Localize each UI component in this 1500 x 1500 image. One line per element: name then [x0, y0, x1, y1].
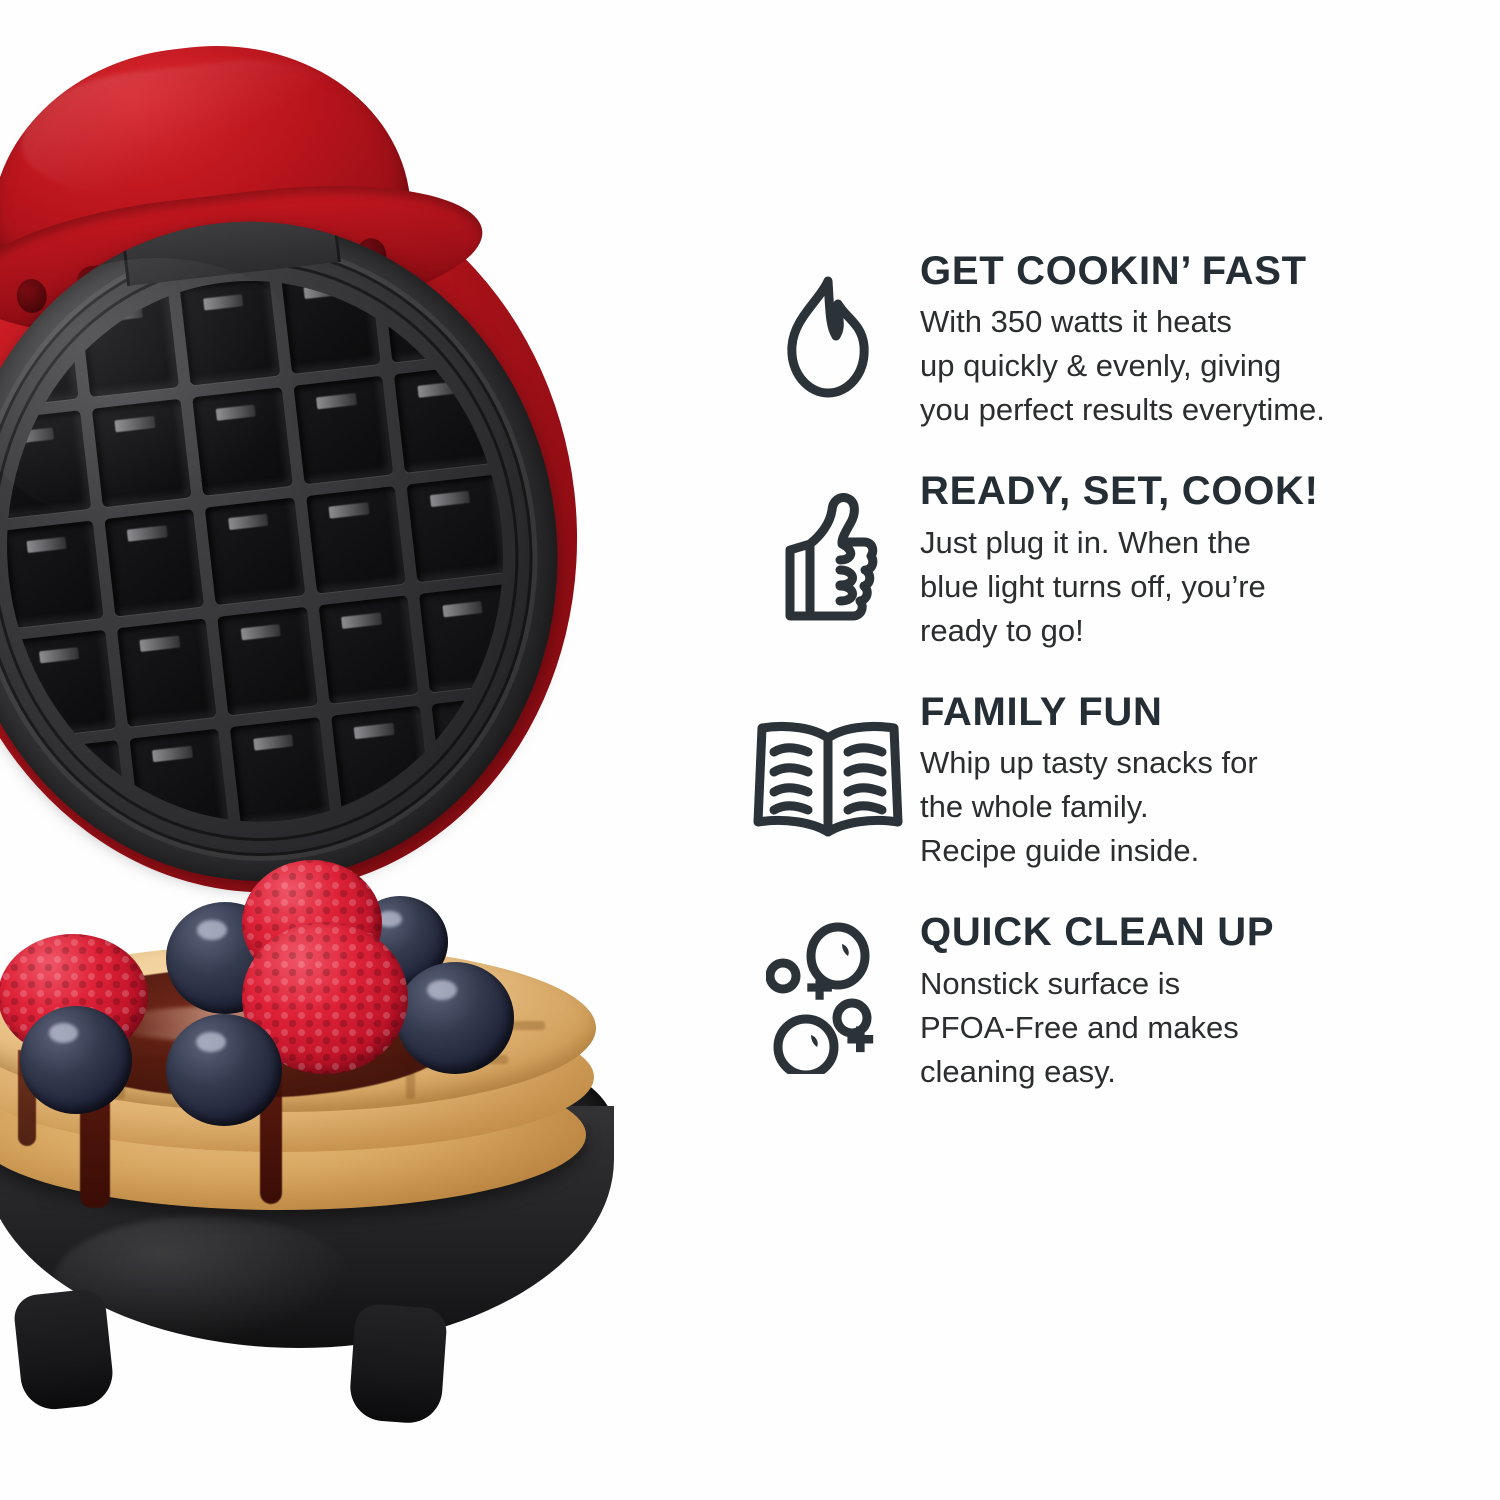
- flame-icon: [735, 248, 920, 398]
- feature-text: QUICK CLEAN UP Nonstick surface is PFOA-…: [920, 909, 1490, 1093]
- feature-title: READY, SET, COOK!: [920, 470, 1490, 512]
- feature-line: Whip up tasty snacks for: [920, 741, 1490, 785]
- blueberry: [166, 1014, 282, 1126]
- feature-title: GET COOKIN’ FAST: [920, 250, 1490, 292]
- thumbs-up-icon: [735, 468, 920, 618]
- feature-title: QUICK CLEAN UP: [920, 911, 1490, 953]
- feature-quick-clean-up: QUICK CLEAN UP Nonstick surface is PFOA-…: [735, 909, 1490, 1093]
- product-photo-mini-waffle-maker: [0, 0, 720, 1500]
- waffle-grid-cell: [117, 619, 217, 727]
- feature-get-cookin-fast: GET COOKIN’ FAST With 350 watts it heats…: [735, 248, 1490, 432]
- feature-text: GET COOKIN’ FAST With 350 watts it heats…: [920, 248, 1490, 432]
- feature-text: READY, SET, COOK! Just plug it in. When …: [920, 468, 1490, 652]
- feature-line: cleaning easy.: [920, 1050, 1490, 1094]
- product-feature-graphic: GET COOKIN’ FAST With 350 watts it heats…: [0, 0, 1500, 1500]
- waffle-grid-cell: [104, 509, 204, 617]
- feature-line: PFOA-Free and makes: [920, 1006, 1490, 1050]
- nonstick-waffle-plate: [0, 189, 592, 913]
- base-foot-left: [12, 1288, 116, 1413]
- waffle-grid-cell: [230, 717, 330, 825]
- waffle-maker-lid: [0, 3, 676, 937]
- feature-line: up quickly & evenly, giving: [920, 344, 1490, 388]
- feature-line: Nonstick surface is: [920, 962, 1490, 1006]
- feature-line: the whole family.: [920, 785, 1490, 829]
- waffle-grid-cell: [306, 486, 406, 594]
- feature-line: you perfect results everytime.: [920, 388, 1490, 432]
- bubbles-icon: [735, 909, 920, 1059]
- blueberry: [396, 962, 514, 1074]
- feature-list: GET COOKIN’ FAST With 350 watts it heats…: [735, 248, 1490, 1130]
- feature-line: Recipe guide inside.: [920, 829, 1490, 873]
- waffle-grid-cell: [318, 596, 418, 704]
- feature-ready-set-cook: READY, SET, COOK! Just plug it in. When …: [735, 468, 1490, 652]
- base-foot-right: [348, 1303, 448, 1425]
- feature-line: With 350 watts it heats: [920, 300, 1490, 344]
- open-book-icon: [735, 689, 920, 839]
- feature-line: ready to go!: [920, 609, 1490, 653]
- feature-line: blue light turns off, you’re: [920, 565, 1490, 609]
- waffle-grid-cell: [205, 497, 305, 605]
- feature-text: FAMILY FUN Whip up tasty snacks for the …: [920, 689, 1490, 873]
- blueberry: [20, 1006, 132, 1114]
- waffle-grid-cell: [218, 607, 318, 715]
- feature-line: Just plug it in. When the: [920, 521, 1490, 565]
- waffle-stack: [0, 910, 600, 1200]
- cooked-waffle-with-toppings: [0, 880, 630, 1240]
- waffle-grid-cell: [3, 520, 103, 628]
- feature-family-fun: FAMILY FUN Whip up tasty snacks for the …: [735, 689, 1490, 873]
- waffle-grid-cell: [407, 474, 507, 582]
- feature-title: FAMILY FUN: [920, 691, 1490, 733]
